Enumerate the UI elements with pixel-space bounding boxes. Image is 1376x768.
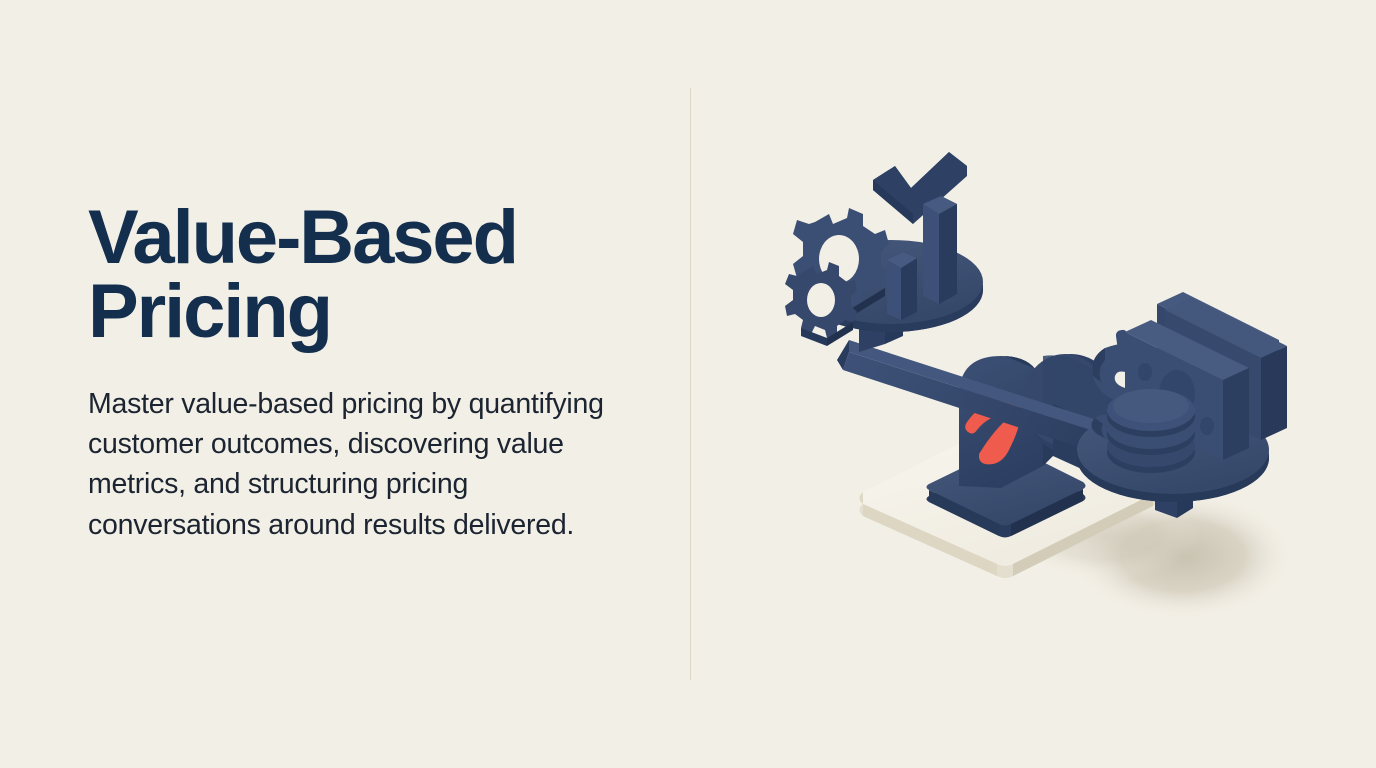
left-pan xyxy=(785,152,983,352)
slide-root: Value-BasedPricing Master value-based pr… xyxy=(0,0,1376,768)
right-pan xyxy=(1077,292,1287,518)
illustration-column xyxy=(690,0,1376,768)
title-line-2: Pricing xyxy=(88,269,331,354)
page-title: Value-BasedPricing xyxy=(88,201,588,350)
balance-scale-illustration xyxy=(753,104,1313,664)
coins-icon xyxy=(1107,389,1195,473)
title-line-1: Value-Based xyxy=(88,195,517,280)
text-column: Value-BasedPricing Master value-based pr… xyxy=(88,0,648,768)
page-subtitle: Master value-based pricing by quantifyin… xyxy=(88,384,608,546)
